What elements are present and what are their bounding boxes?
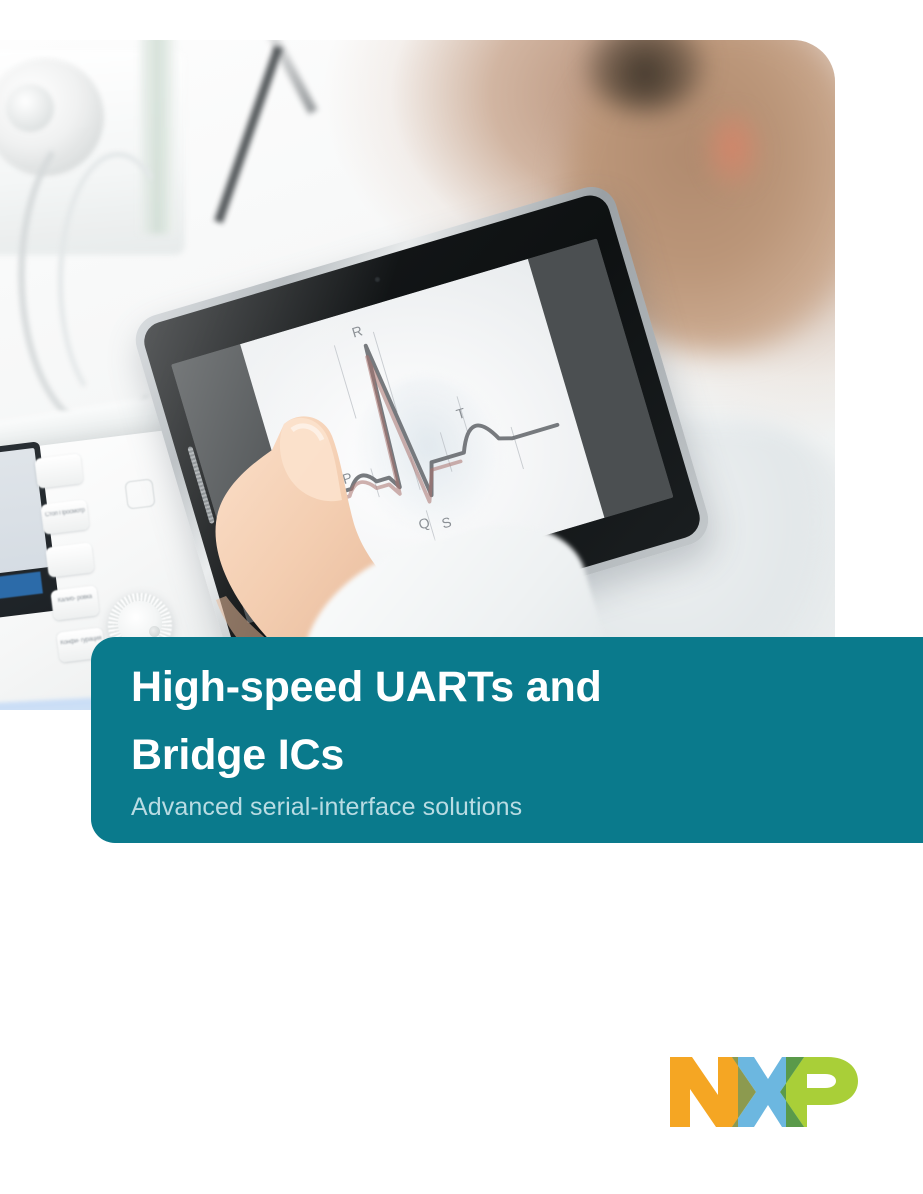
background-knob-core: [6, 84, 54, 132]
camera-icon: [374, 276, 381, 283]
nxp-logo-mark: [668, 1055, 860, 1129]
ecg-label-r: R: [350, 322, 364, 340]
device-icon-button[interactable]: [124, 478, 155, 509]
device-button[interactable]: [45, 542, 94, 577]
page-title: High-speed UARTs and Bridge ICs: [131, 653, 602, 789]
device-button[interactable]: [34, 453, 83, 488]
nxp-logo: [668, 1055, 860, 1129]
clinician-ear: [703, 110, 765, 192]
title-banner: High-speed UARTs and Bridge ICs Advanced…: [91, 637, 923, 843]
cover-photo: Стоп Просмотр Калиб- ровка Конфи- гураци…: [0, 40, 835, 710]
nxp-letter-n: [670, 1057, 738, 1127]
page-subtitle: Advanced serial-interface solutions: [131, 793, 522, 822]
